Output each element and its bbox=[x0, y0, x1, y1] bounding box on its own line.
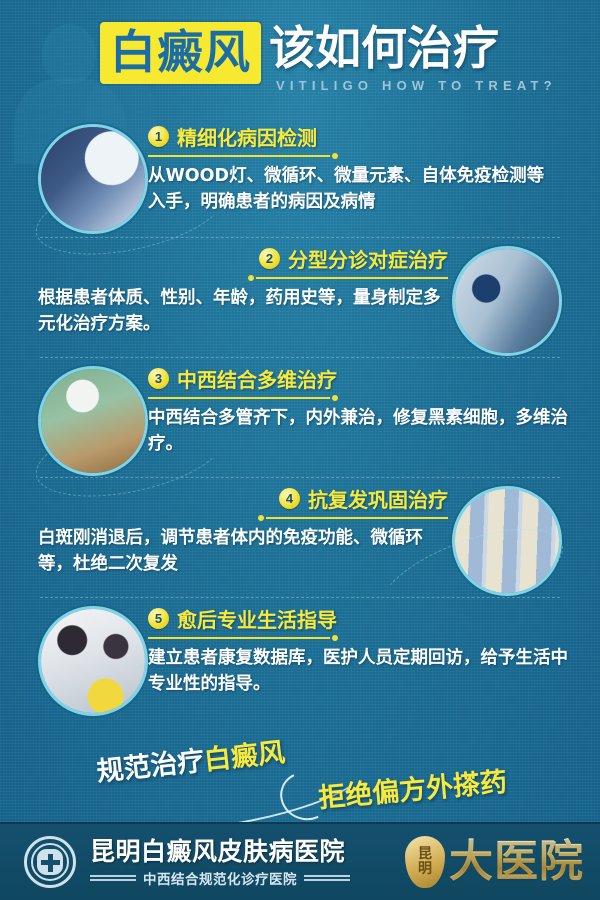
dash-decor-left bbox=[90, 873, 136, 883]
gold-logo-text: 大医院 bbox=[449, 837, 584, 887]
section-2-body: 2 分型分诊对症治疗 根据患者体质、性别、年龄，药用史等，量身制定多元化治疗方案… bbox=[38, 244, 448, 337]
section-3-rule bbox=[148, 394, 338, 402]
section-3-number-badge: 3 bbox=[148, 368, 169, 389]
hospital-name: 昆明白癜风皮肤病医院 bbox=[90, 837, 350, 866]
section-3-text: 中西结合多管齐下，内外兼治，修复黑素细胞，多维治疗。 bbox=[148, 405, 568, 457]
section-5-text: 建立患者康复数据库，医护人员定期回访，给予生活中专业性的指导。 bbox=[148, 645, 568, 697]
section-5-heading: 愈后专业生活指导 bbox=[177, 604, 337, 633]
section-4-body: 4 抗复发巩固治疗 白斑刚消退后，调节患者体内的免疫功能、微循环等，杜绝二次复发 bbox=[38, 484, 448, 577]
section-2: 2 分型分诊对症治疗 根据患者体质、性别、年龄，药用史等，量身制定多元化治疗方案… bbox=[0, 240, 600, 360]
section-1-text: 从WOOD灯、微循环、微量元素、自体免疫检测等入手，明确患者的病因及病情 bbox=[148, 163, 548, 215]
poster-footer: 昆明白癜风皮肤病医院 中西结合规范化诊疗医院 昆 明 大医院 bbox=[0, 822, 600, 900]
title-highlight-box: 白癜风 bbox=[100, 22, 261, 84]
title-main-text: 该如何治疗 bbox=[269, 22, 499, 74]
section-2-photo bbox=[452, 246, 562, 356]
title-subtitle: VITILIGO HOW TO TREAT? bbox=[276, 78, 557, 93]
section-4-rule bbox=[258, 514, 448, 522]
section-4: 4 抗复发巩固治疗 白斑刚消退后，调节患者体内的免疫功能、微循环等，杜绝二次复发 bbox=[0, 480, 600, 600]
section-5-photo bbox=[38, 606, 148, 716]
section-3-photo bbox=[38, 366, 148, 476]
section-2-rule bbox=[248, 274, 448, 282]
section-4-text: 白斑刚消退后，调节患者体内的免疫功能、微循环等，杜绝二次复发 bbox=[38, 525, 448, 577]
section-1-rule bbox=[148, 152, 338, 160]
section-1: 1 精细化病因检测 从WOOD灯、微循环、微量元素、自体免疫检测等入手，明确患者… bbox=[0, 118, 600, 238]
title-boxed-text: 白癜风 bbox=[110, 26, 251, 78]
poster-root: 白癜风 该如何治疗 VITILIGO HOW TO TREAT? 1 精细化病因… bbox=[0, 0, 600, 900]
section-2-heading: 分型分诊对症治疗 bbox=[288, 244, 448, 273]
section-3-body: 3 中西结合多维治疗 中西结合多管齐下，内外兼治，修复黑素细胞，多维治疗。 bbox=[148, 364, 568, 457]
poster-header: 白癜风 该如何治疗 VITILIGO HOW TO TREAT? bbox=[0, 0, 600, 112]
section-1-number-badge: 1 bbox=[148, 126, 169, 147]
section-1-heading: 精细化病因检测 bbox=[177, 122, 317, 151]
section-5-number-badge: 5 bbox=[148, 608, 169, 629]
gold-shield-line-2: 明 bbox=[418, 862, 432, 877]
gold-logo: 昆 明 大医院 bbox=[405, 836, 584, 888]
section-1-body: 1 精细化病因检测 从WOOD灯、微循环、微量元素、自体免疫检测等入手，明确患者… bbox=[148, 122, 548, 215]
section-divider bbox=[40, 237, 560, 239]
section-4-heading: 抗复发巩固治疗 bbox=[308, 484, 448, 513]
section-divider bbox=[40, 357, 560, 359]
section-5-body: 5 愈后专业生活指导 建立患者康复数据库，医护人员定期回访，给予生活中专业性的指… bbox=[148, 604, 568, 697]
tagline-block: 规范治疗白癜风 拒绝偏方外搽药 bbox=[0, 726, 600, 822]
section-2-number-badge: 2 bbox=[259, 248, 280, 269]
section-2-text: 根据患者体质、性别、年龄，药用史等，量身制定多元化治疗方案。 bbox=[38, 285, 448, 337]
section-3-heading: 中西结合多维治疗 bbox=[177, 364, 337, 393]
section-4-number-badge: 4 bbox=[279, 488, 300, 509]
hospital-branding: 昆明白癜风皮肤病医院 中西结合规范化诊疗医院 bbox=[90, 837, 350, 888]
page-title: 白癜风 该如何治疗 bbox=[100, 22, 499, 84]
section-3: 3 中西结合多维治疗 中西结合多管齐下，内外兼治，修复黑素细胞，多维治疗。 bbox=[0, 360, 600, 480]
section-1-photo bbox=[38, 124, 148, 234]
section-5: 5 愈后专业生活指导 建立患者康复数据库，医护人员定期回访，给予生活中专业性的指… bbox=[0, 600, 600, 720]
hospital-emblem-icon bbox=[24, 836, 76, 888]
section-divider bbox=[40, 597, 560, 599]
section-5-rule bbox=[148, 634, 338, 642]
section-divider bbox=[40, 477, 560, 479]
section-4-photo bbox=[452, 486, 562, 596]
gold-shield-line-1: 昆 bbox=[418, 847, 432, 862]
hospital-subtitle: 中西结合规范化诊疗医院 bbox=[143, 868, 297, 888]
gold-shield-icon: 昆 明 bbox=[405, 836, 445, 888]
dash-decor-right bbox=[304, 873, 350, 883]
